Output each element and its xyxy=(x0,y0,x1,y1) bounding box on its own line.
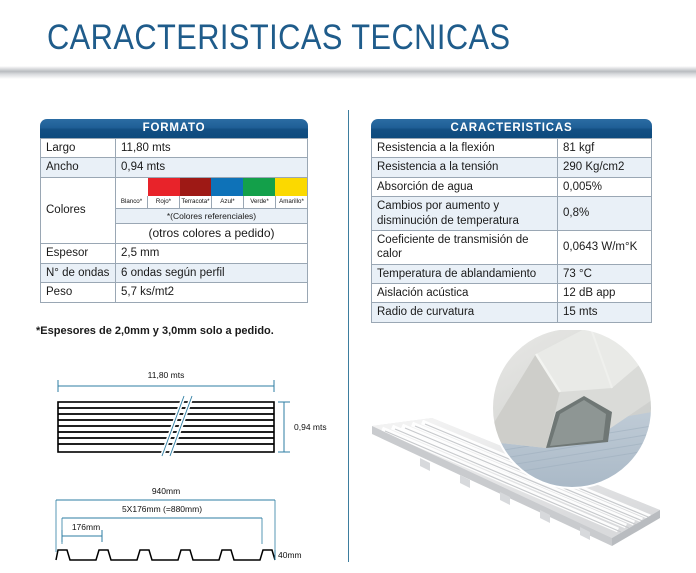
row-value: 81 kgf xyxy=(558,139,652,158)
profile-pitch-sum-label: 5X176mm (=880mm) xyxy=(122,504,202,514)
formato-table: Largo 11,80 mts Ancho 0,94 mts Colores B… xyxy=(40,138,308,303)
table-row: Radio de curvatura 15 mts xyxy=(372,303,652,322)
table-row: Coeficiente de transmisión de calor 0,06… xyxy=(372,230,652,264)
formato-table-header: FORMATO xyxy=(40,119,308,138)
color-swatch-terracota xyxy=(180,178,212,196)
detail-circle-inset xyxy=(492,330,652,488)
row-label: Radio de curvatura xyxy=(372,303,558,322)
caracteristicas-table-header: CARACTERISTICAS xyxy=(371,119,652,138)
row-label: Resistencia a la flexión xyxy=(372,139,558,158)
row-label: Absorción de agua xyxy=(372,177,558,196)
row-value: 11,80 mts xyxy=(116,139,308,158)
sheet-width-label: 0,94 mts xyxy=(294,422,327,432)
caracteristicas-table-block: CARACTERISTICAS Resistencia a la flexión… xyxy=(371,119,652,323)
title-divider-rule xyxy=(0,66,696,79)
table-row: Cambios por aumento y disminución de tem… xyxy=(372,197,652,231)
table-row: Temperatura de ablandamiento 73 °C xyxy=(372,264,652,283)
row-value: 15 mts xyxy=(558,303,652,322)
color-swatch-strip xyxy=(116,178,307,196)
colors-note-referenciales: *(Colores referenciales) xyxy=(116,208,308,224)
page-title: CARACTERISTICAS TECNICAS xyxy=(47,18,511,58)
spec-sheet-page: CARACTERISTICAS TECNICAS FORMATO Largo 1… xyxy=(0,0,696,573)
color-swatch-label: Azul* xyxy=(211,196,243,208)
row-value: 0,005% xyxy=(558,177,652,196)
table-row: Ancho 0,94 mts xyxy=(41,158,308,177)
table-row: Absorción de agua 0,005% xyxy=(372,177,652,196)
sheet-length-label: 11,80 mts xyxy=(148,370,185,380)
profile-pitch-label: 176mm xyxy=(72,522,100,532)
profile-section-diagram: 940mm 5X176mm (=880mm) 176mm 40mm xyxy=(34,480,334,573)
row-value: 5,7 ks/mt2 xyxy=(116,283,308,302)
table-row: Largo 11,80 mts xyxy=(41,139,308,158)
color-swatch-amarillo xyxy=(275,178,307,196)
color-swatch-label: Terracota* xyxy=(179,196,211,208)
row-value: 12 dB app xyxy=(558,284,652,303)
caracteristicas-table: Resistencia a la flexión 81 kgf Resisten… xyxy=(371,138,652,323)
row-label: Espesor xyxy=(41,244,116,263)
table-row: Aislación acústica 12 dB app xyxy=(372,284,652,303)
color-swatch-azul xyxy=(211,178,243,196)
colors-note-pedido: (otros colores a pedido) xyxy=(116,224,308,244)
row-value: 290 Kg/cm2 xyxy=(558,158,652,177)
profile-total-width-label: 940mm xyxy=(152,486,180,496)
color-swatch-label: Blanco* xyxy=(116,196,147,208)
table-row-colors: Colores Blanco*Rojo*Terracota*Azul*Verde… xyxy=(41,177,308,208)
row-label: Colores xyxy=(41,177,116,244)
row-label: Coeficiente de transmisión de calor xyxy=(372,230,558,264)
table-row: Resistencia a la tensión 290 Kg/cm2 xyxy=(372,158,652,177)
row-label: Resistencia a la tensión xyxy=(372,158,558,177)
row-value: 2,5 mm xyxy=(116,244,308,263)
color-swatch-label: Amarillo* xyxy=(275,196,307,208)
color-swatch-label: Verde* xyxy=(243,196,275,208)
color-swatch-verde xyxy=(243,178,275,196)
row-value: 6 ondas según perfil xyxy=(116,263,308,282)
table-row: N° de ondas 6 ondas según perfil xyxy=(41,263,308,282)
row-label: Aislación acústica xyxy=(372,284,558,303)
column-divider xyxy=(348,110,349,562)
sheet-plan-diagram: 11,80 mts 0,94 mts xyxy=(34,362,334,468)
table-row: Peso 5,7 ks/mt2 xyxy=(41,283,308,302)
color-swatch-label: Rojo* xyxy=(147,196,179,208)
color-swatches-cell: Blanco*Rojo*Terracota*Azul*Verde*Amarill… xyxy=(116,177,308,208)
row-value: 0,8% xyxy=(558,197,652,231)
row-label: Cambios por aumento y disminución de tem… xyxy=(372,197,558,231)
color-swatch-rojo xyxy=(148,178,180,196)
color-swatch-blanco xyxy=(116,178,148,196)
row-value: 73 °C xyxy=(558,264,652,283)
color-label-strip: Blanco*Rojo*Terracota*Azul*Verde*Amarill… xyxy=(116,196,307,208)
row-label: Temperatura de ablandamiento xyxy=(372,264,558,283)
row-label: Peso xyxy=(41,283,116,302)
table-row: Resistencia a la flexión 81 kgf xyxy=(372,139,652,158)
row-label: Ancho xyxy=(41,158,116,177)
thickness-footnote: *Espesores de 2,0mm y 3,0mm solo a pedid… xyxy=(36,325,274,337)
formato-table-block: FORMATO Largo 11,80 mts Ancho 0,94 mts C… xyxy=(40,119,308,303)
product-photo xyxy=(360,330,696,573)
row-label: Largo xyxy=(41,139,116,158)
row-value: 0,0643 W/m°K xyxy=(558,230,652,264)
row-label: N° de ondas xyxy=(41,263,116,282)
profile-height-label: 40mm xyxy=(278,550,302,560)
row-value: 0,94 mts xyxy=(116,158,308,177)
table-row: Espesor 2,5 mm xyxy=(41,244,308,263)
